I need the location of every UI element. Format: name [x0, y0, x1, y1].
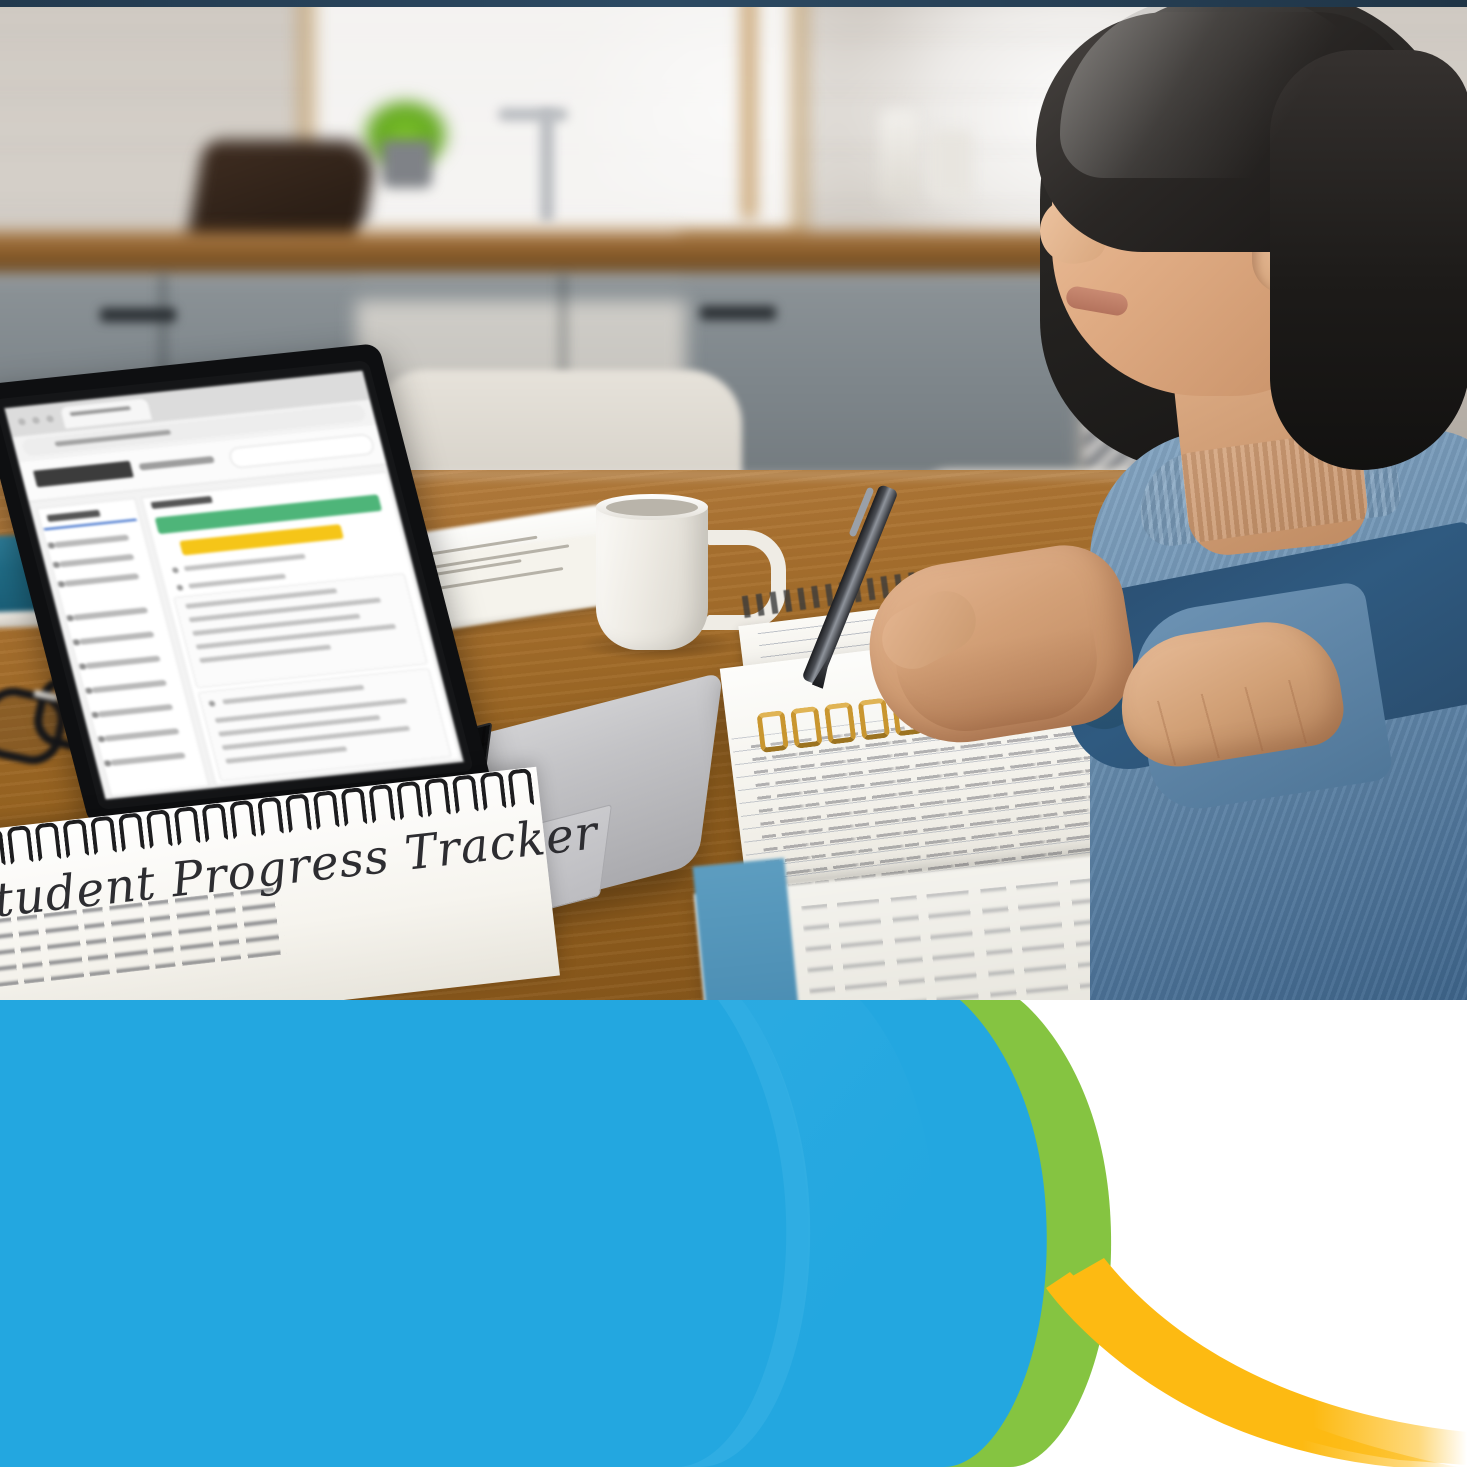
hero-photo: Student Progress Tracker	[0, 0, 1467, 1002]
faucet	[540, 110, 554, 225]
woman-photo-subject	[940, 0, 1467, 1002]
top-accent-strip	[0, 0, 1467, 7]
coffee-mug	[596, 502, 708, 650]
promo-graphic-canvas: Student Progress Tracker	[0, 0, 1467, 1467]
knife-block	[186, 140, 380, 245]
bottle	[880, 110, 918, 200]
document-blue-header	[693, 858, 800, 1002]
brand-swoosh-graphics	[0, 1000, 1467, 1467]
brand-footer: HOW TO TRACK YOUR CHILD’S IEP PROGRESS W…	[0, 1000, 1467, 1467]
